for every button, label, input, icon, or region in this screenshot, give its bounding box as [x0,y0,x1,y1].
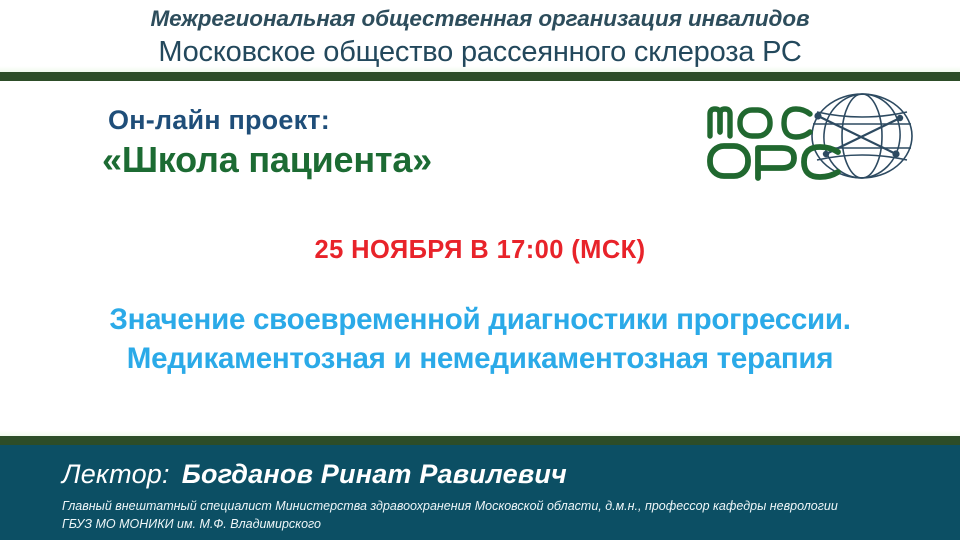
lecturer-name: Богданов Ринат Равилевич [182,459,567,489]
lecture-topic: Значение своевременной диагностики прогр… [0,300,960,378]
logo-wordmark-bottom [710,146,838,178]
event-datetime: 25 НОЯБРЯ В 17:00 (МСК) [0,236,960,265]
lecturer-credentials-line-2: ГБУЗ МО МОНИКИ им. М.Ф. Владимирского [62,515,960,533]
organization-header: Межрегиональная общественная организация… [0,0,960,72]
lecturer-footer: Лектор:Богданов Ринат Равилевич Главный … [0,445,960,540]
lecture-topic-line-1: Значение своевременной диагностики прогр… [7,300,953,339]
presentation-slide: Межрегиональная общественная организация… [0,0,960,540]
footer-divider [0,436,960,445]
globe-icon [812,92,912,183]
project-name: «Школа пациента» [102,138,628,182]
project-title-block: Он-лайн проект: «Школа пациента» [108,104,628,182]
organization-title: Московское общество рассеянного склероза… [0,34,960,70]
logo-wordmark-top [710,109,810,137]
lecturer-row: Лектор:Богданов Ринат Равилевич [62,457,960,491]
lecturer-label: Лектор: [62,459,170,489]
organization-subtitle: Межрегиональная общественная организация… [0,4,960,34]
lecture-topic-line-2: Медикаментозная и немедикаментозная тера… [7,339,953,378]
mosors-logo [700,92,930,184]
project-kicker: Он-лайн проект: [108,104,628,136]
lecturer-credentials-line-1: Главный внештатный специалист Министерст… [62,497,960,515]
header-divider [0,72,960,81]
